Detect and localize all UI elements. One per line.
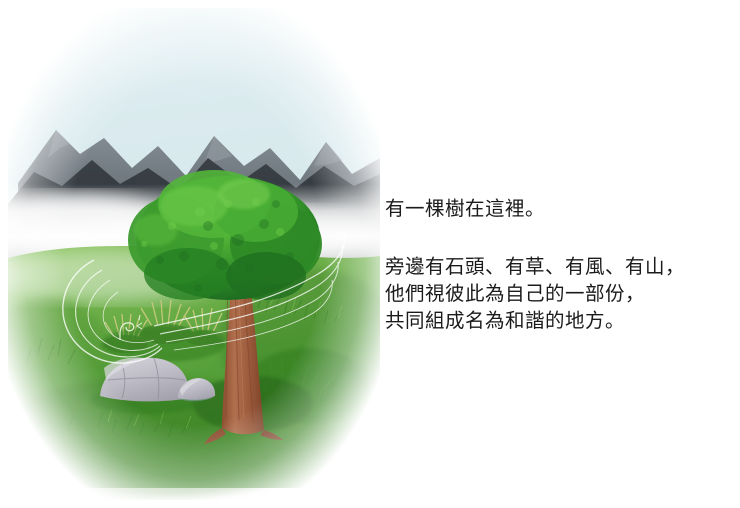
narration-paragraph-1: 有一棵樹在這裡。 bbox=[385, 196, 725, 223]
narration-line: 共同組成名為和諧的地方。 bbox=[385, 308, 725, 335]
narration-line: 旁邊有石頭、有草、有風、有山， bbox=[385, 254, 725, 281]
illustration-svg bbox=[8, 8, 380, 500]
narration-text: 有一棵樹在這裡。 旁邊有石頭、有草、有風、有山， 他們視彼此為自己的一部份， 共… bbox=[385, 196, 725, 335]
narration-line: 他們視彼此為自己的一部份， bbox=[385, 281, 725, 308]
illustration-canvas bbox=[8, 8, 380, 500]
narration-line: 有一棵樹在這裡。 bbox=[385, 196, 725, 223]
page-root: 有一棵樹在這裡。 旁邊有石頭、有草、有風、有山， 他們視彼此為自己的一部份， 共… bbox=[0, 0, 740, 508]
narration-paragraph-2: 旁邊有石頭、有草、有風、有山， 他們視彼此為自己的一部份， 共同組成名為和諧的地… bbox=[385, 254, 725, 335]
